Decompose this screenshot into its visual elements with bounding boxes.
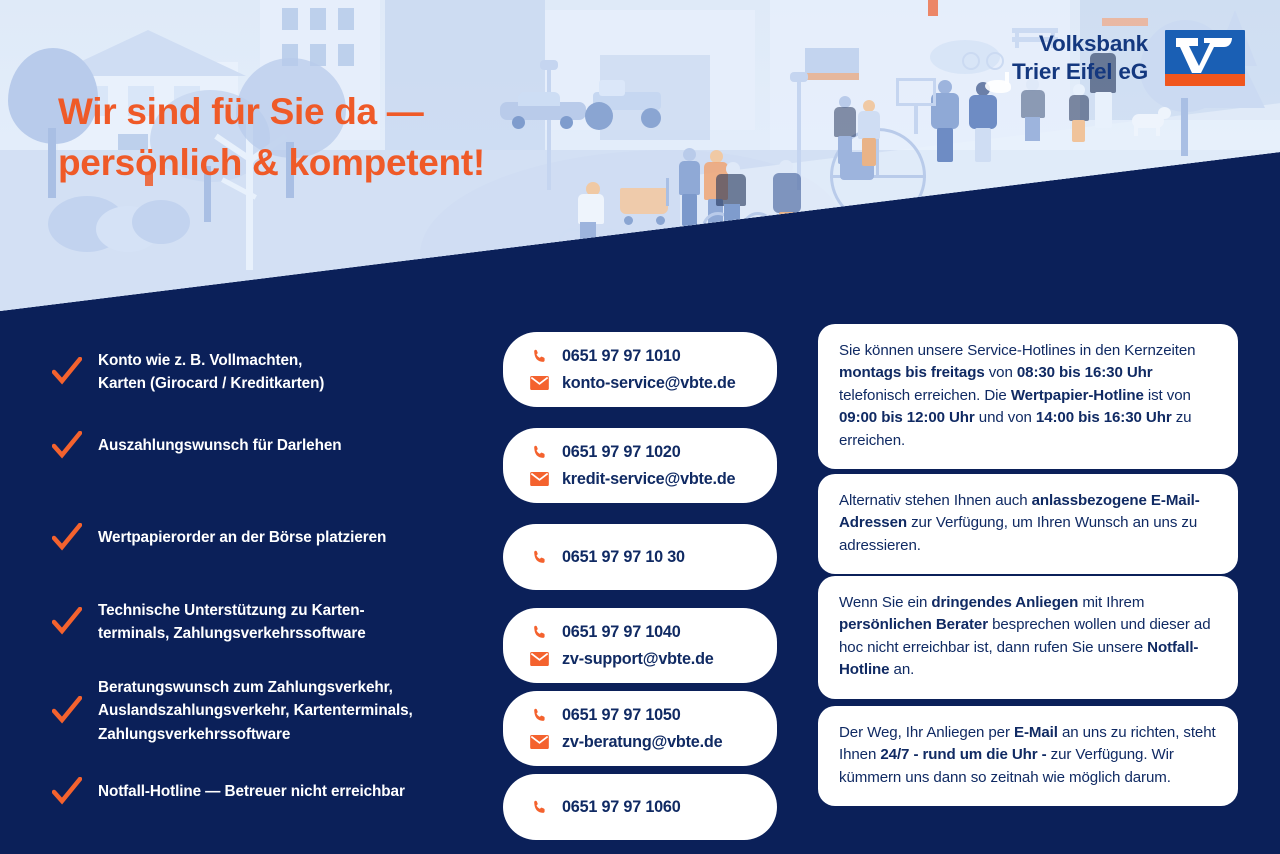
email-row[interactable]: zv-support@vbte.de: [529, 649, 757, 669]
vr-bank-logo-icon: [1165, 30, 1245, 86]
contact-pill-kredit-service[interactable]: 0651 97 97 1020 kredit-service@vbte.de: [503, 428, 777, 503]
phone-number: 0651 97 97 1050: [562, 706, 681, 725]
headline-line-1: Wir sind für Sie da —: [58, 86, 578, 137]
check-icon: [52, 523, 82, 553]
email-row[interactable]: kredit-service@vbte.de: [529, 469, 757, 489]
phone-number: 0651 97 97 1060: [562, 798, 681, 817]
accent-awning: [1102, 18, 1148, 26]
email-address: zv-beratung@vbte.de: [562, 733, 722, 752]
check-icon: [52, 777, 82, 807]
info-box-email-24-7: Der Weg, Ihr Anliegen per E-Mail an uns …: [818, 706, 1238, 806]
poster-root: Wir sind für Sie da — persönlich & kompe…: [0, 0, 1280, 854]
content-area: Konto wie z. B. Vollmachten, Karten (Gir…: [0, 318, 1280, 854]
bicycle-parked: [962, 46, 1006, 70]
phone-row[interactable]: 0651 97 97 1040: [529, 622, 757, 642]
bank-sign: [805, 48, 859, 80]
phone-number: 0651 97 97 10 30: [562, 548, 685, 567]
person-cyclist-left: [556, 182, 626, 260]
phone-number: 0651 97 97 1010: [562, 347, 681, 366]
person-group-b: [856, 100, 882, 166]
phone-row[interactable]: 0651 97 97 1020: [529, 442, 757, 462]
envelope-icon: [529, 373, 549, 393]
person-cyclist-right: [700, 162, 778, 248]
accent-sign-mid: [928, 0, 938, 16]
person-shopper-a: [676, 148, 702, 226]
checklist-item-label: Auszahlungswunsch für Darlehen: [98, 434, 341, 457]
page-title: Wir sind für Sie da — persönlich & kompe…: [58, 86, 578, 188]
checklist-item-notfall: Notfall-Hotline — Betreuer nicht erreich…: [52, 777, 405, 807]
email-address: konto-service@vbte.de: [562, 374, 736, 393]
brand-logo: Volksbank Trier Eifel eG: [1012, 30, 1245, 86]
email-row[interactable]: konto-service@vbte.de: [529, 373, 757, 393]
person-scooter-kid: [770, 160, 804, 248]
phone-icon: [529, 622, 549, 642]
phone-row[interactable]: 0651 97 97 1060: [529, 797, 757, 817]
person-group-a: [832, 96, 858, 164]
shopping-cart: [620, 178, 680, 226]
checklist-item-konto: Konto wie z. B. Vollmachten, Karten (Gir…: [52, 349, 324, 396]
contact-pill-zv-support[interactable]: 0651 97 97 1040 zv-support@vbte.de: [503, 608, 777, 683]
headline-line-2: persönlich & kompetent!: [58, 137, 578, 188]
info-box-text: Der Weg, Ihr Anliegen per E-Mail an uns …: [839, 722, 1218, 789]
info-box-text: Sie können unsere Service-Hotlines in de…: [839, 340, 1218, 452]
checklist-item-technik: Technische Unterstützung zu Karten- term…: [52, 599, 366, 646]
email-row[interactable]: zv-beratung@vbte.de: [529, 732, 757, 752]
checklist-item-label: Beratungswunsch zum Zahlungsverkehr, Aus…: [98, 676, 413, 746]
vr-logo-orange-bar: [1165, 74, 1245, 86]
checklist-item-wertpapier: Wertpapierorder an der Börse platzieren: [52, 523, 386, 553]
envelope-icon: [529, 732, 549, 752]
contact-pill-wertpapier[interactable]: 0651 97 97 10 30: [503, 524, 777, 590]
person-dog: [1128, 106, 1172, 136]
phone-icon: [529, 547, 549, 567]
phone-number: 0651 97 97 1020: [562, 443, 681, 462]
phone-row[interactable]: 0651 97 97 1010: [529, 346, 757, 366]
checklist-item-darlehen: Auszahlungswunsch für Darlehen: [52, 431, 341, 461]
envelope-icon: [529, 649, 549, 669]
basketball-hoop: [896, 78, 940, 134]
tractor: [585, 80, 679, 128]
info-box-email-adressen: Alternativ stehen Ihnen auch anlassbezog…: [818, 474, 1238, 574]
checklist-item-label: Konto wie z. B. Vollmachten, Karten (Gir…: [98, 349, 324, 396]
envelope-icon: [529, 469, 549, 489]
info-box-dringendes-anliegen: Wenn Sie ein dringendes Anliegen mit Ihr…: [818, 576, 1238, 699]
bush-3: [132, 200, 190, 244]
email-address: kredit-service@vbte.de: [562, 470, 735, 489]
phone-number: 0651 97 97 1040: [562, 623, 681, 642]
phone-icon: [529, 442, 549, 462]
contact-pill-konto-service[interactable]: 0651 97 97 1010 konto-service@vbte.de: [503, 332, 777, 407]
brand-name-line-1: Volksbank: [1012, 30, 1148, 58]
info-box-service-hotline-zeiten: Sie können unsere Service-Hotlines in de…: [818, 324, 1238, 469]
phone-icon: [529, 346, 549, 366]
checklist-item-label: Wertpapierorder an der Börse platzieren: [98, 526, 386, 549]
brand-name-line-2: Trier Eifel eG: [1012, 58, 1148, 86]
brand-logo-text: Volksbank Trier Eifel eG: [1012, 30, 1148, 86]
check-icon: [52, 696, 82, 726]
checklist-item-label: Technische Unterstützung zu Karten- term…: [98, 599, 366, 646]
person-walker-pair-b: [968, 82, 998, 166]
contact-pill-zv-beratung[interactable]: 0651 97 97 1050 zv-beratung@vbte.de: [503, 691, 777, 766]
info-box-text: Alternativ stehen Ihnen auch anlassbezog…: [839, 490, 1218, 557]
checklist-item-label: Notfall-Hotline — Betreuer nicht erreich…: [98, 780, 405, 803]
phone-icon: [529, 797, 549, 817]
check-icon: [52, 607, 82, 637]
person-child: [1068, 84, 1090, 142]
phone-row[interactable]: 0651 97 97 10 30: [529, 547, 757, 567]
phone-row[interactable]: 0651 97 97 1050: [529, 705, 757, 725]
check-icon: [52, 431, 82, 461]
phone-icon: [529, 705, 549, 725]
info-box-text: Wenn Sie ein dringendes Anliegen mit Ihr…: [839, 592, 1218, 682]
hero-illustration: Wir sind für Sie da — persönlich & kompe…: [0, 0, 1280, 320]
check-icon: [52, 357, 82, 387]
contact-pill-notfall[interactable]: 0651 97 97 1060: [503, 774, 777, 840]
checklist-item-beratung: Beratungswunsch zum Zahlungsverkehr, Aus…: [52, 676, 413, 746]
person-basketball: [1020, 78, 1046, 140]
email-address: zv-support@vbte.de: [562, 650, 714, 669]
